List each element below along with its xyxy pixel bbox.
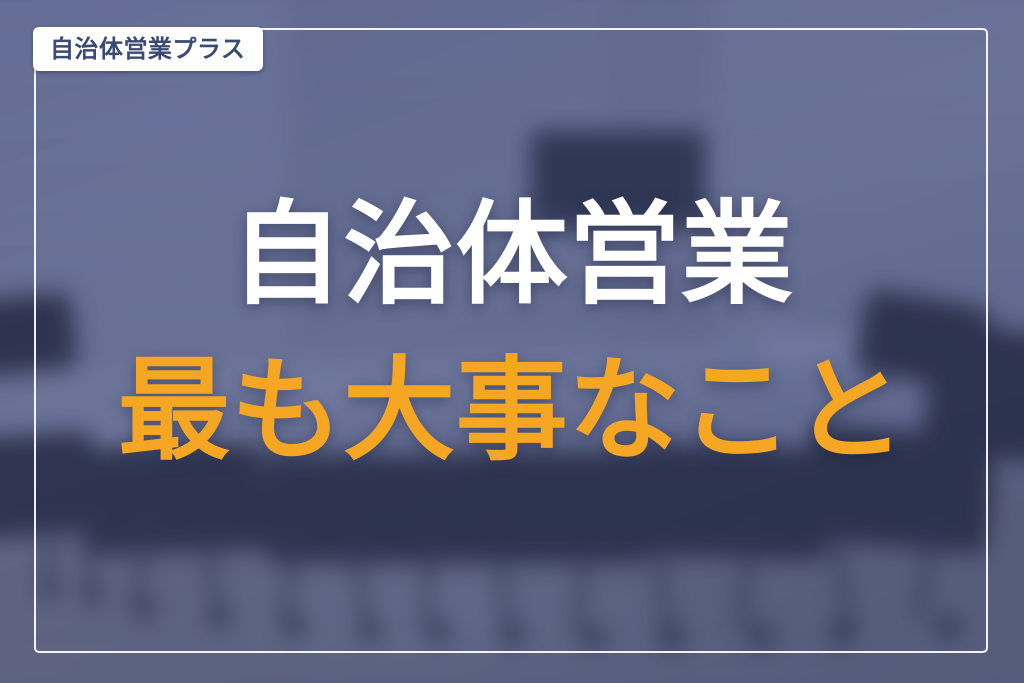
- blue-wash-overlay: [0, 0, 1024, 683]
- category-badge-label: 自治体営業プラス: [50, 37, 245, 61]
- category-badge: 自治体営業プラス: [33, 27, 263, 71]
- eyecatch-banner: 自治体営業プラス 自治体営業 最も大事なこと: [0, 0, 1024, 683]
